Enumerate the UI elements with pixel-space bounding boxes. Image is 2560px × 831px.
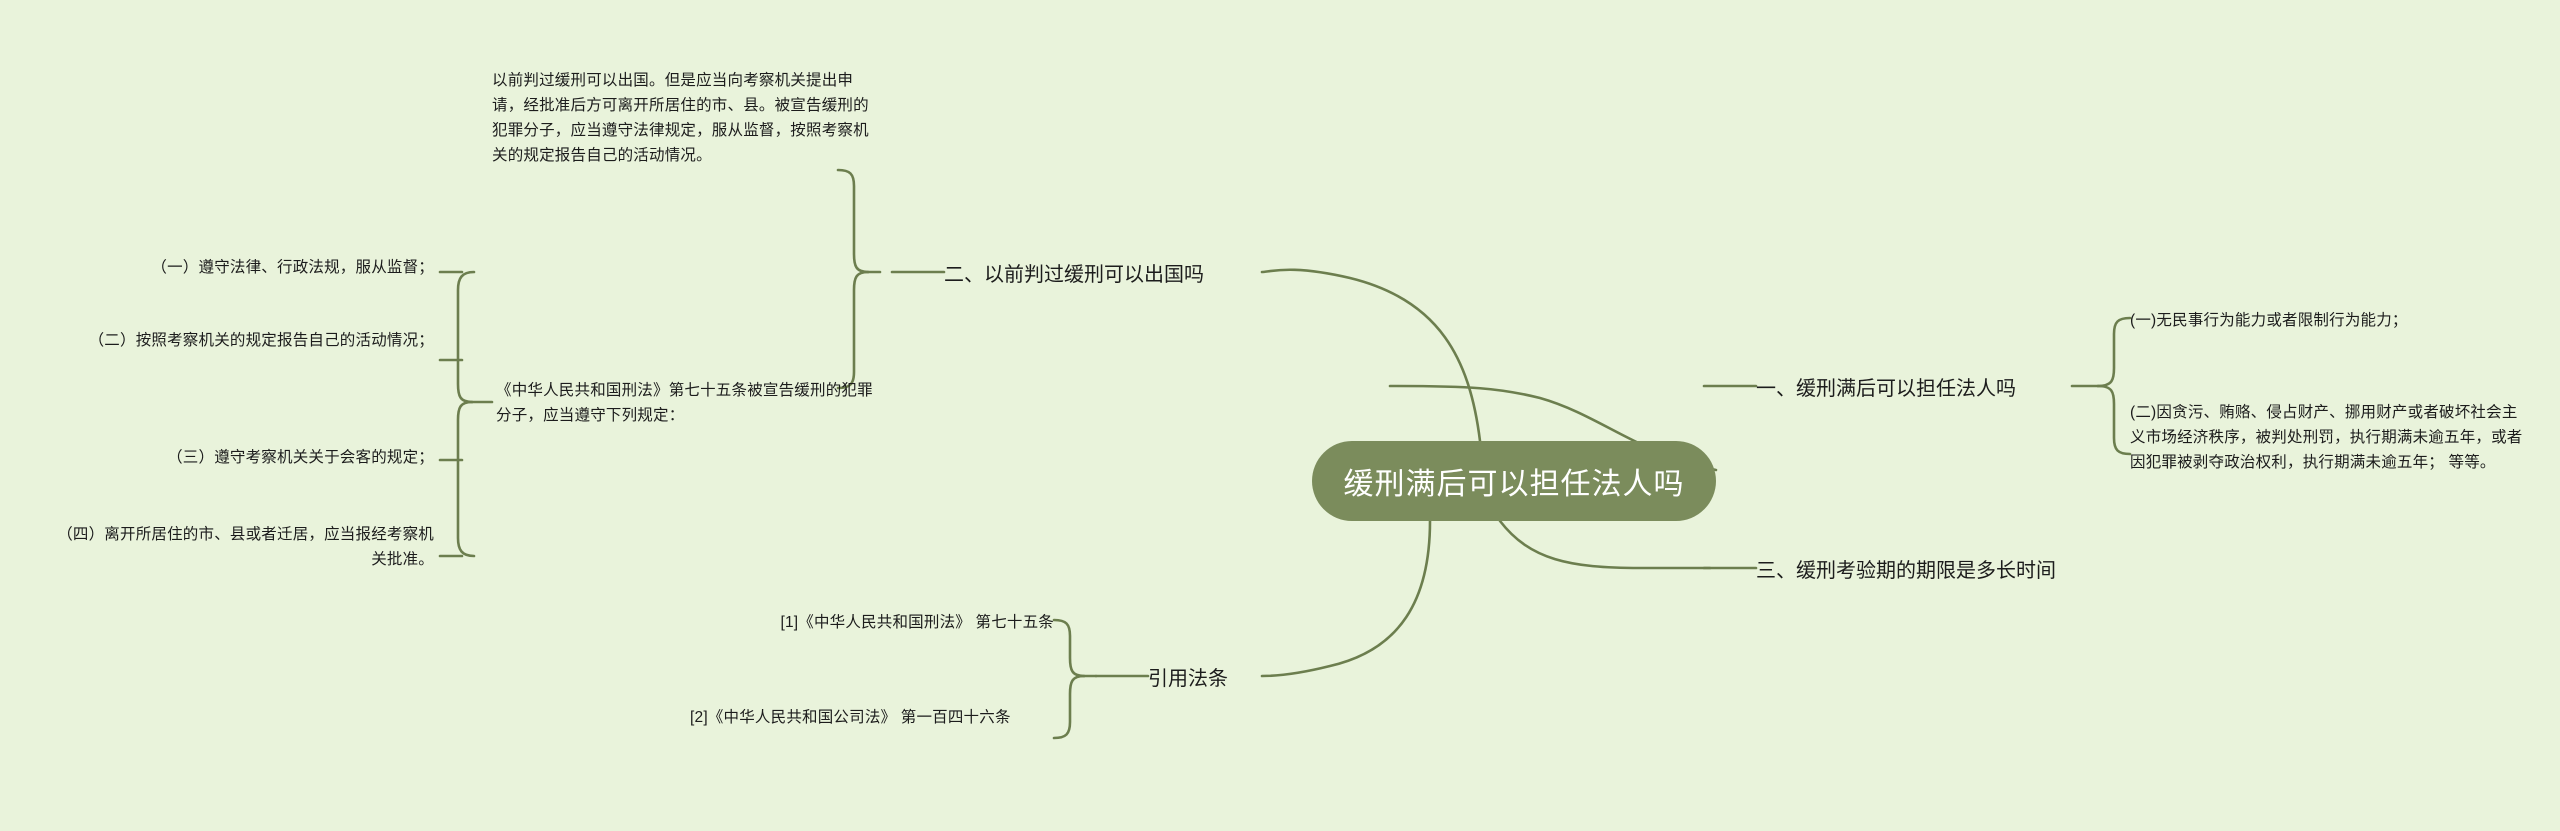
regulation-item-4[interactable]: （四）离开所居住的市、县或者迁居，应当报经考察机关批准。 bbox=[50, 522, 434, 572]
regulation-item-1[interactable]: （一）遵守法律、行政法规，服从监督； bbox=[60, 255, 434, 280]
regulation-item-3-text: （三）遵守考察机关关于会客的规定； bbox=[167, 449, 434, 466]
branch-label-3-text: 三、缓刑考验期的期限是多长时间 bbox=[1756, 560, 2056, 582]
branch-label-2[interactable]: 二、以前判过缓刑可以出国吗 bbox=[944, 260, 1284, 290]
leaf-b2-c2[interactable]: 《中华人民共和国刑法》第七十五条被宣告缓刑的犯罪分子，应当遵守下列规定： bbox=[496, 378, 878, 428]
branch-label-2-text: 二、以前判过缓刑可以出国吗 bbox=[944, 264, 1204, 286]
citation-item-2[interactable]: [2]《中华人民共和国公司法》 第一百四十六条 bbox=[690, 705, 1054, 730]
citation-item-1[interactable]: [1]《中华人民共和国刑法》 第七十五条 bbox=[680, 610, 1054, 635]
branch-label-4-text: 引用法条 bbox=[1148, 668, 1228, 690]
leaf-b1-c1[interactable]: (一)无民事行为能力或者限制行为能力； bbox=[2130, 308, 2530, 333]
leaf-b2-c1[interactable]: 以前判过缓刑可以出国。但是应当向考察机关提出申请，经批准后方可离开所居住的市、县… bbox=[492, 68, 874, 168]
regulation-item-2-text: （二）按照考察机关的规定报告自己的活动情况； bbox=[89, 332, 434, 349]
root-node-label: 缓刑满后可以担任法人吗 bbox=[1344, 459, 1685, 503]
mindmap-canvas: 缓刑满后可以担任法人吗 一、缓刑满后可以担任法人吗 (一)无民事行为能力或者限制… bbox=[0, 0, 2560, 831]
regulation-item-4-text: （四）离开所居住的市、县或者迁居，应当报经考察机关批准。 bbox=[57, 526, 434, 568]
regulation-item-3[interactable]: （三）遵守考察机关关于会客的规定； bbox=[60, 445, 434, 470]
leaf-b1-c2[interactable]: (二)因贪污、贿赂、侵占财产、挪用财产或者破坏社会主义市场经济秩序，被判处刑罚，… bbox=[2130, 400, 2530, 475]
citation-item-2-text: [2]《中华人民共和国公司法》 第一百四十六条 bbox=[690, 709, 1011, 726]
regulation-item-1-text: （一）遵守法律、行政法规，服从监督； bbox=[151, 259, 434, 276]
branch-label-3[interactable]: 三、缓刑考验期的期限是多长时间 bbox=[1756, 556, 2156, 586]
leaf-b2-c2-text: 《中华人民共和国刑法》第七十五条被宣告缓刑的犯罪分子，应当遵守下列规定： bbox=[496, 382, 873, 424]
branch-label-1[interactable]: 一、缓刑满后可以担任法人吗 bbox=[1756, 374, 2086, 404]
regulation-item-2[interactable]: （二）按照考察机关的规定报告自己的活动情况； bbox=[50, 328, 434, 353]
citation-item-1-text: [1]《中华人民共和国刑法》 第七十五条 bbox=[780, 614, 1054, 631]
root-node[interactable]: 缓刑满后可以担任法人吗 bbox=[1312, 441, 1716, 521]
leaf-b2-c1-text: 以前判过缓刑可以出国。但是应当向考察机关提出申请，经批准后方可离开所居住的市、县… bbox=[492, 72, 869, 164]
leaf-b1-c2-text: (二)因贪污、贿赂、侵占财产、挪用财产或者破坏社会主义市场经济秩序，被判处刑罚，… bbox=[2130, 404, 2523, 471]
leaf-b1-c1-text: (一)无民事行为能力或者限制行为能力； bbox=[2130, 312, 2408, 329]
branch-label-4[interactable]: 引用法条 bbox=[1148, 664, 1368, 694]
branch-label-1-text: 一、缓刑满后可以担任法人吗 bbox=[1756, 378, 2016, 400]
